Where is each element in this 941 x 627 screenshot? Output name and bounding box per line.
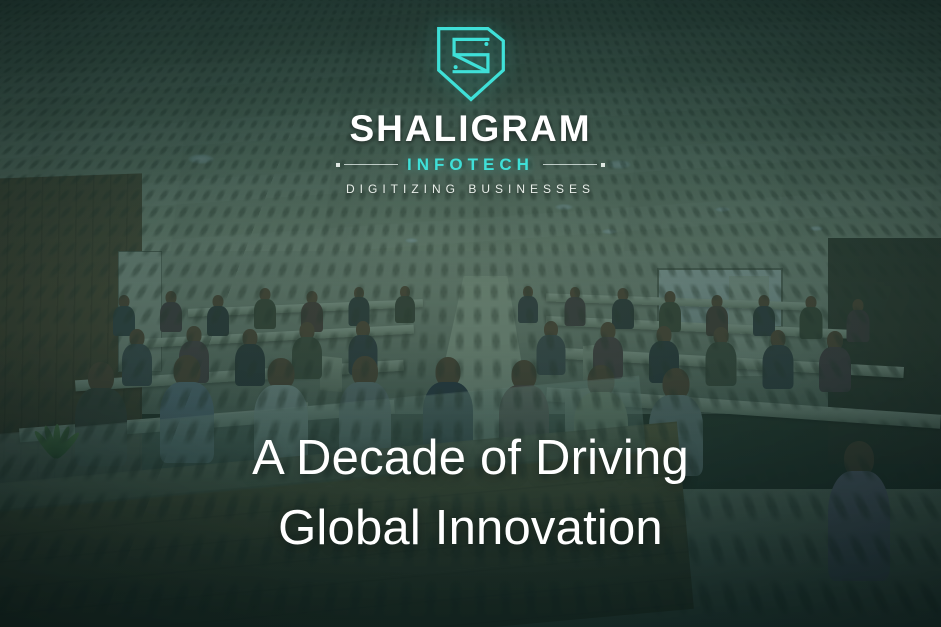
hero-banner: SHALIGRAM INFOTECH DIGITIZING BUSINESSES… [0,0,941,627]
brand-tagline: DIGITIZING BUSINESSES [346,183,595,195]
brand-wordmark: SHALIGRAM [349,110,591,147]
shield-s-logo-icon [432,24,510,104]
rule-dot-right [601,163,605,167]
rule-dot-left [336,163,340,167]
rule-line-left [344,164,398,165]
rule-line-right [543,164,597,165]
brand-lockup: SHALIGRAM INFOTECH DIGITIZING BUSINESSES [0,24,941,195]
headline: A Decade of Driving Global Innovation [0,424,941,563]
rule-left [336,163,398,167]
brand-division: INFOTECH [407,156,534,173]
headline-line-2: Global Innovation [0,494,941,564]
headline-line-1: A Decade of Driving [0,424,941,494]
division-row: INFOTECH [336,156,605,173]
rule-right [543,163,605,167]
